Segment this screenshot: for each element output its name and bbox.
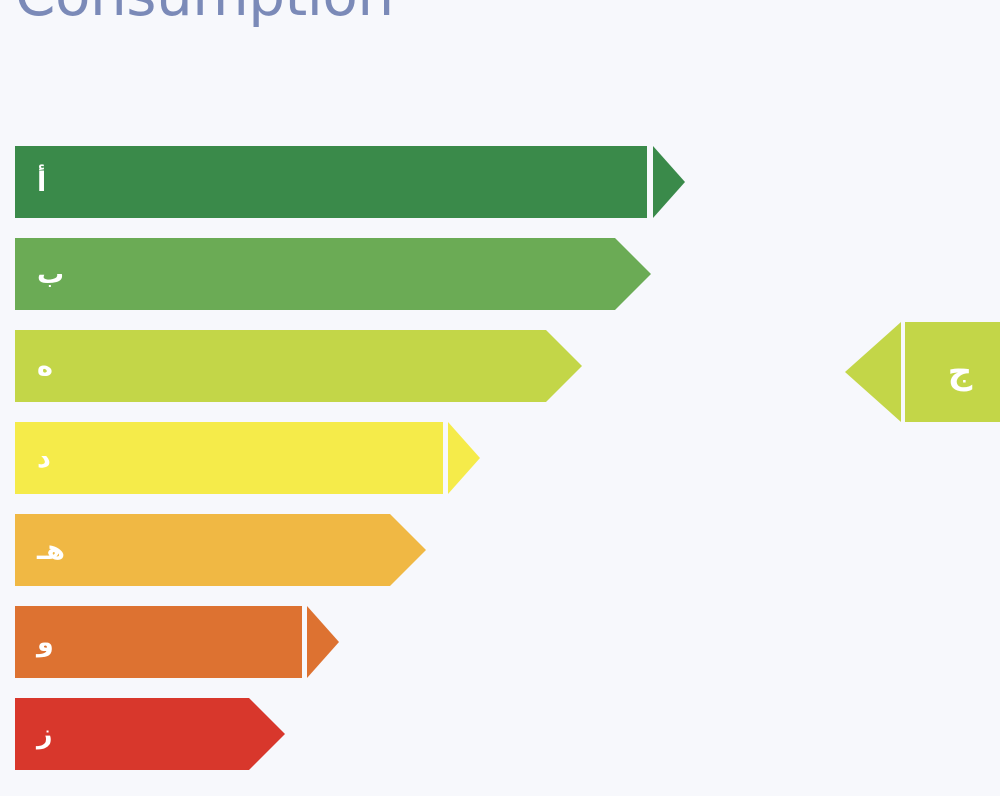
rating-bar-arrow-tip-icon	[307, 606, 339, 678]
rating-bar-row[interactable]: ز	[0, 698, 1000, 770]
consumption-rating-chart: Consumption أبهدهـوز ج	[0, 0, 1000, 796]
rating-bar-row[interactable]: ب	[0, 238, 1000, 310]
rating-arrow-left-icon	[845, 322, 901, 422]
rating-bar-row[interactable]: أ	[0, 146, 1000, 218]
rating-bar-shape	[15, 514, 426, 586]
rating-bar-shape	[15, 422, 443, 494]
rating-bar-shape	[15, 606, 302, 678]
rating-bar-row[interactable]: د	[0, 422, 1000, 494]
rating-bar-row[interactable]: و	[0, 606, 1000, 678]
rating-bar-shape	[15, 330, 582, 402]
rating-bar-arrow-tip-icon	[448, 422, 480, 494]
rating-bar-shape	[15, 238, 651, 310]
rating-bar-arrow-tip-icon	[653, 146, 685, 218]
rating-bar-shape	[15, 146, 647, 218]
current-rating-label: ج	[905, 322, 1000, 422]
rating-bar-shape	[15, 698, 285, 770]
current-rating-indicator[interactable]: ج	[845, 322, 1000, 422]
rating-bar-row[interactable]: هـ	[0, 514, 1000, 586]
